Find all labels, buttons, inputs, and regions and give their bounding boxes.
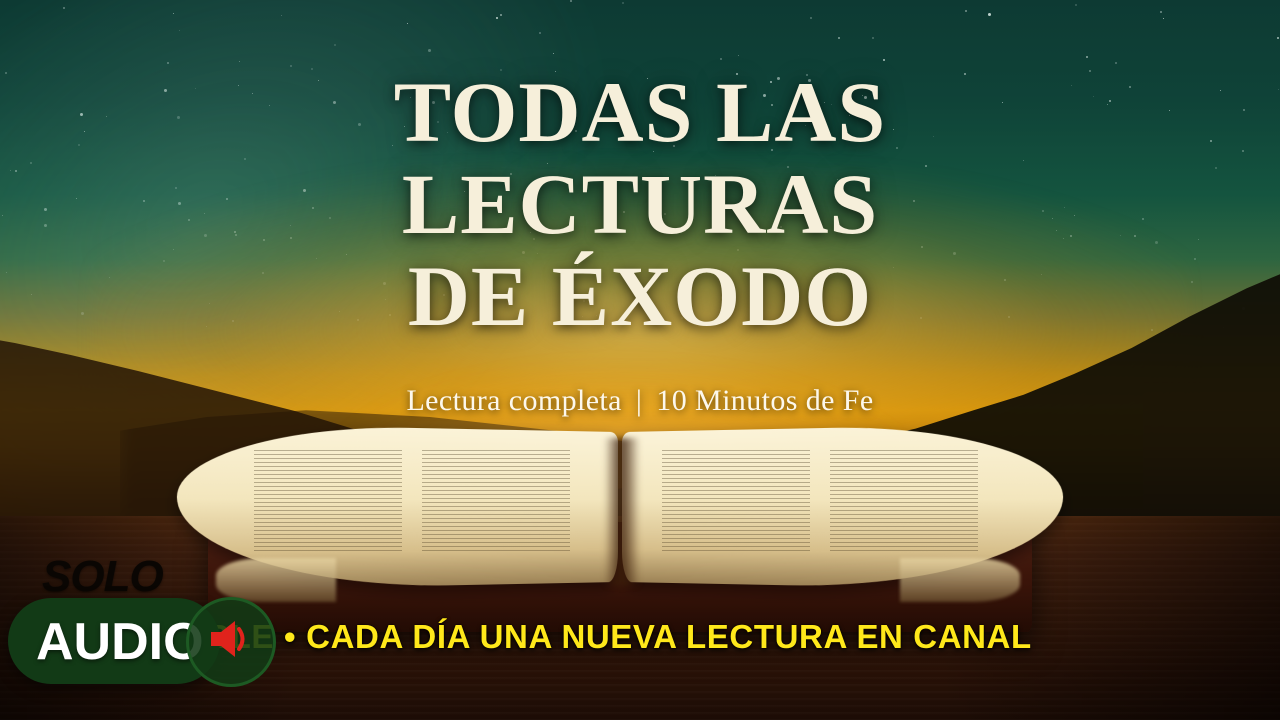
page-text-column: [662, 450, 810, 554]
ticker-bullet: •: [274, 618, 306, 656]
page-text-column: [254, 450, 402, 554]
subtitle-right: 10 Minutos de Fe: [656, 384, 873, 417]
thumbnail-canvas: TODAS LAS LECTURAS DE ÉXODO Lectura comp…: [0, 0, 1280, 720]
speaker-icon: [208, 618, 252, 660]
page-text-column: [830, 450, 978, 554]
open-bible: [200, 432, 1040, 642]
audio-label: AUDIO: [36, 612, 204, 672]
subtitle-separator: |: [622, 384, 656, 417]
subtitle: Lectura completa|10 Minutos de Fe: [0, 384, 1280, 418]
bible-edge-left: [216, 558, 336, 602]
ticker-message: CADA DÍA UNA NUEVA LECTURA EN CANAL: [306, 618, 1032, 656]
subtitle-left: Lectura completa: [406, 384, 621, 417]
page-text-column: [422, 450, 570, 554]
bible-edge-right: [900, 558, 1020, 602]
bible-spine-gutter: [604, 438, 640, 586]
solo-label: SOLO: [42, 552, 163, 602]
